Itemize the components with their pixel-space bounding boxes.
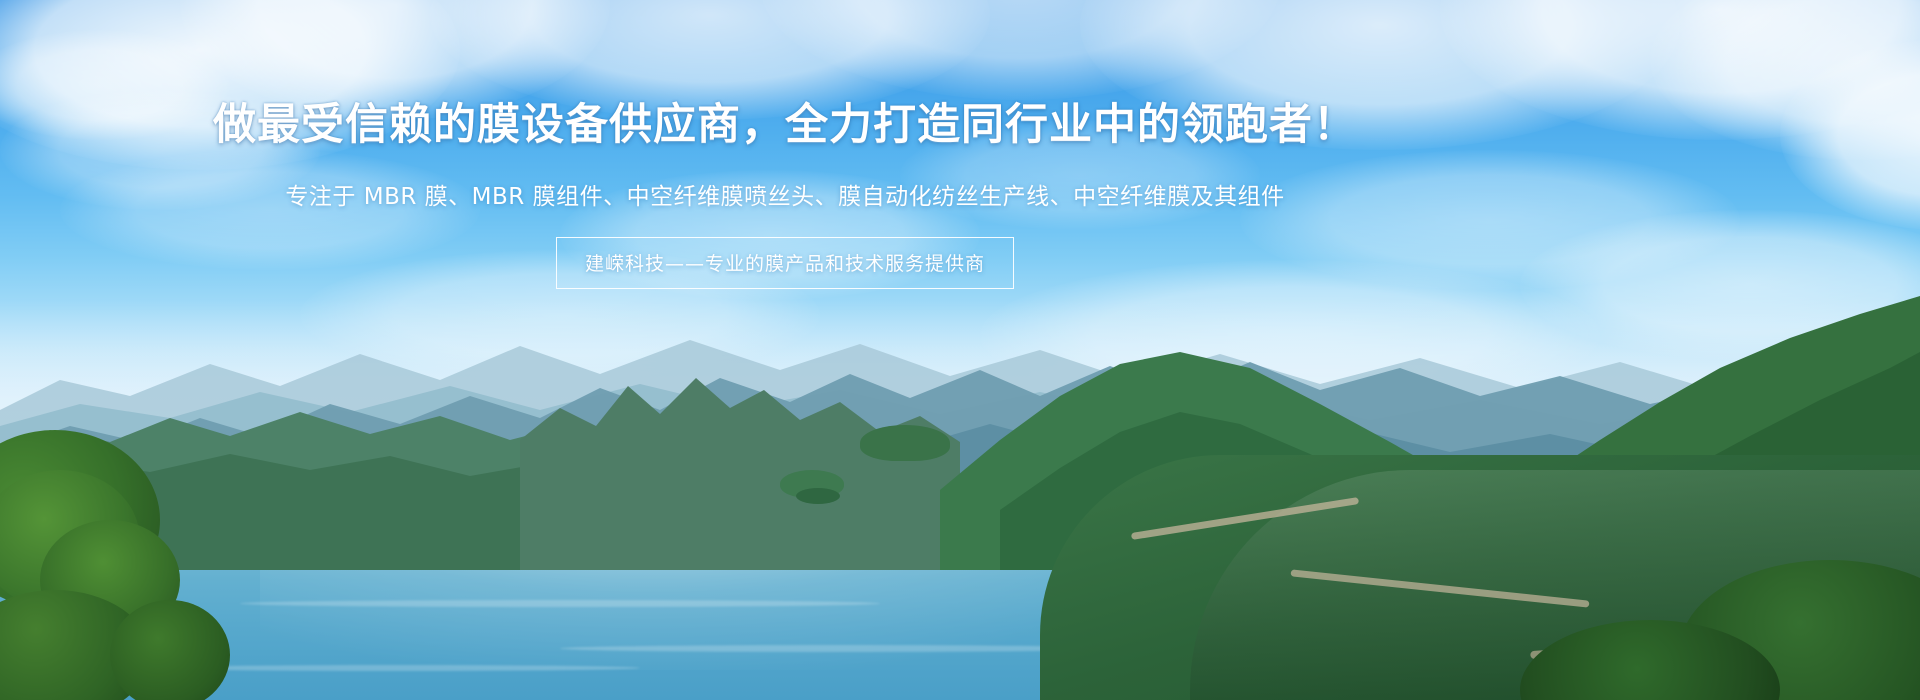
water-highlight (160, 665, 640, 671)
hero-tagline: 建嵘科技——专业的膜产品和技术服务提供商 (556, 237, 1014, 289)
water-highlight (240, 600, 880, 607)
island-medium (860, 425, 950, 461)
hero-tagline-wrapper: 建嵘科技——专业的膜产品和技术服务提供商 (0, 211, 1570, 289)
page-title: 做最受信赖的膜设备供应商，全力打造同行业中的领跑者！ (0, 0, 1570, 151)
hero-banner: 做最受信赖的膜设备供应商，全力打造同行业中的领跑者！ 专注于 MBR 膜、MBR… (0, 0, 1920, 700)
water-highlight (560, 645, 1120, 652)
island-small-base (796, 488, 840, 504)
hero-copy-block: 做最受信赖的膜设备供应商，全力打造同行业中的领跑者！ 专注于 MBR 膜、MBR… (0, 0, 1570, 289)
hero-subtitle: 专注于 MBR 膜、MBR 膜组件、中空纤维膜喷丝头、膜自动化纺丝生产线、中空纤… (0, 151, 1570, 211)
foreground-foliage (110, 600, 230, 700)
